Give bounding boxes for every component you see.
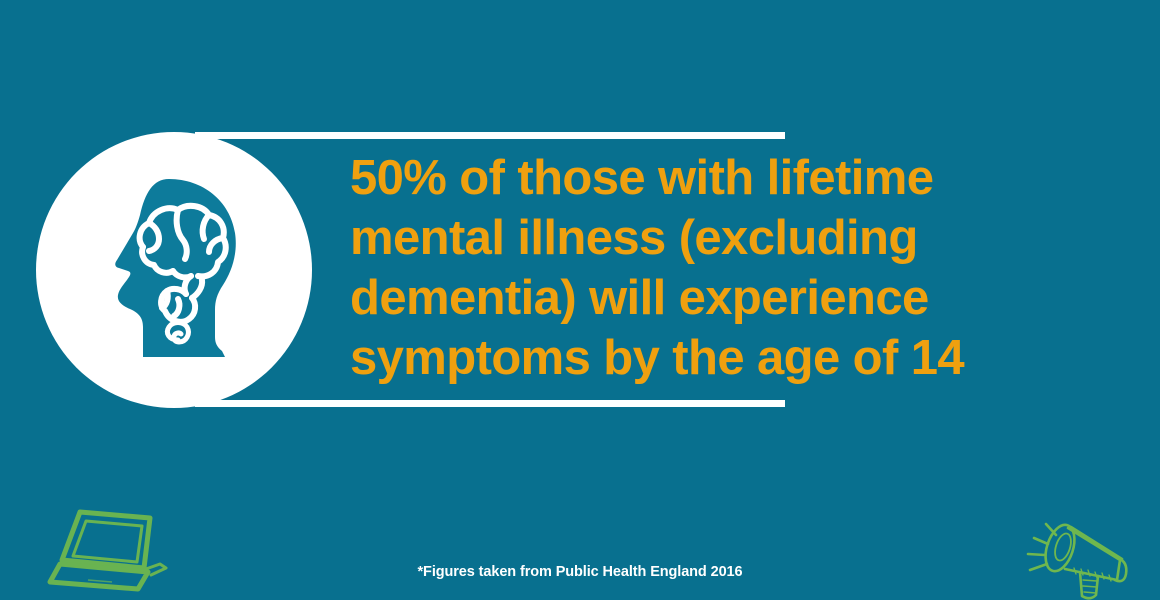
headline-line-2: mental illness (excluding <box>350 208 990 268</box>
headline-line-3: dementia) will experience <box>350 268 990 328</box>
icon-circle <box>36 132 312 408</box>
top-divider-rule <box>195 132 785 139</box>
megaphone-icon <box>1016 500 1148 600</box>
source-footnote: *Figures taken from Public Health Englan… <box>0 564 1160 580</box>
head-with-brain-icon <box>99 177 249 363</box>
headline-line-4: symptoms by the age of 14 <box>350 328 990 388</box>
bottom-divider-rule <box>195 400 785 407</box>
headline: 50% of those with lifetime mental illnes… <box>350 148 990 388</box>
laptop-icon <box>36 496 176 600</box>
infographic-canvas: 50% of those with lifetime mental illnes… <box>0 0 1160 600</box>
headline-line-1: 50% of those with lifetime <box>350 148 990 208</box>
